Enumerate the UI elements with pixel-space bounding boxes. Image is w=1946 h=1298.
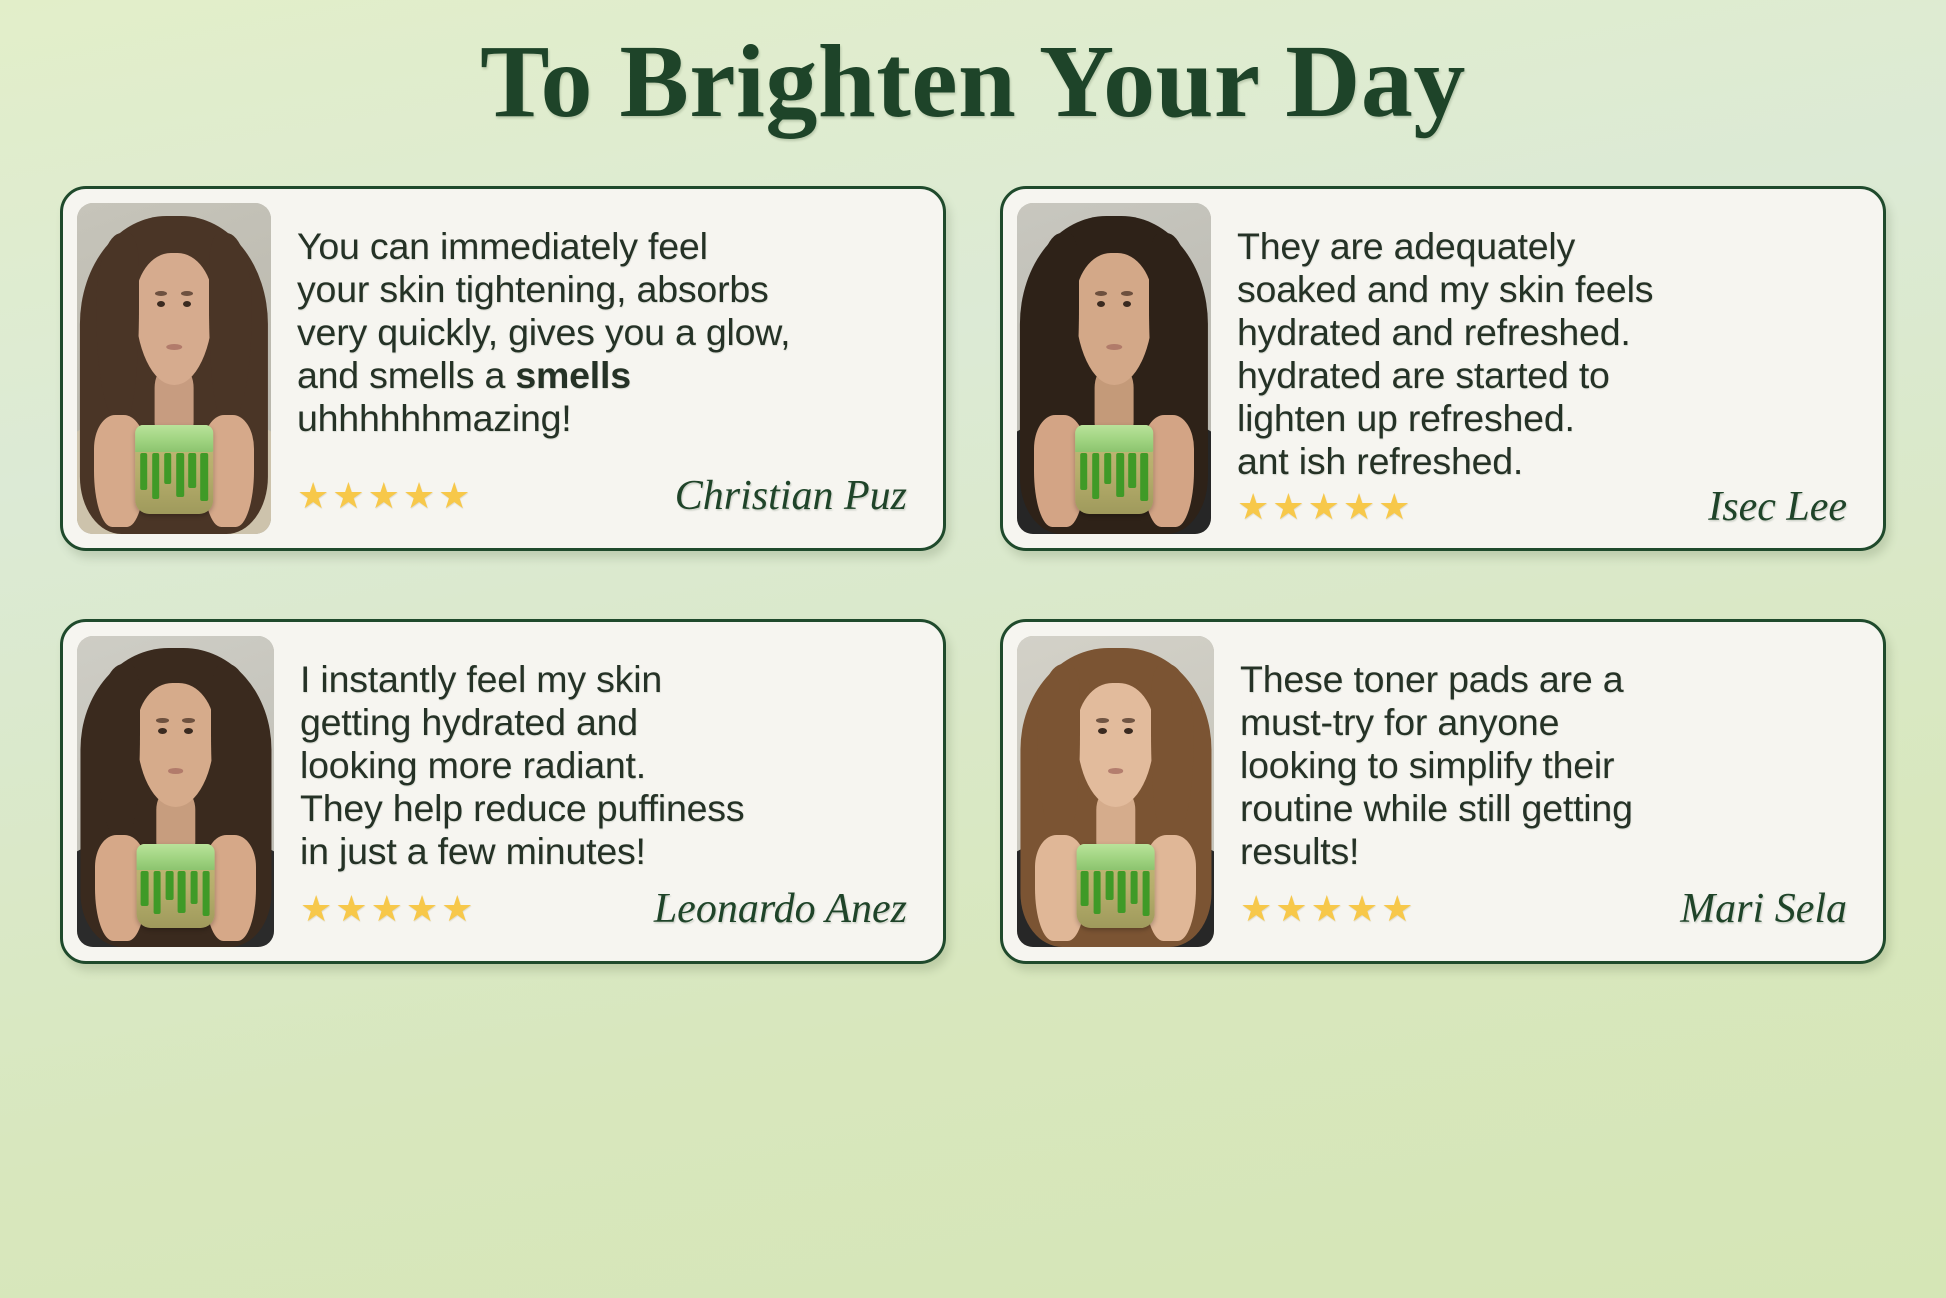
star-icon: ★ bbox=[1237, 489, 1269, 525]
review-footer: ★ ★ ★ ★ ★ Leonardo Anez bbox=[300, 885, 907, 939]
star-icon: ★ bbox=[1275, 891, 1307, 927]
review-body: I instantly feel my skin getting hydrate… bbox=[274, 636, 929, 947]
review-body: They are adequately soaked and my skin f… bbox=[1211, 203, 1869, 534]
star-icon: ★ bbox=[1343, 489, 1375, 525]
review-footer: ★ ★ ★ ★ ★ Mari Sela bbox=[1240, 885, 1847, 939]
review-card[interactable]: You can immediately feel your skin tight… bbox=[60, 186, 946, 551]
review-text: They are adequately soaked and my skin f… bbox=[1237, 225, 1847, 483]
reviewer-photo bbox=[1017, 203, 1211, 534]
review-footer: ★ ★ ★ ★ ★ Christian Puz bbox=[297, 472, 907, 526]
star-icon: ★ bbox=[335, 891, 367, 927]
star-rating: ★ ★ ★ ★ ★ bbox=[297, 478, 470, 520]
star-rating: ★ ★ ★ ★ ★ bbox=[1237, 489, 1410, 531]
review-text: These toner pads are a must-try for anyo… bbox=[1240, 658, 1847, 873]
review-card[interactable]: I instantly feel my skin getting hydrate… bbox=[60, 619, 946, 964]
review-card[interactable]: These toner pads are a must-try for anyo… bbox=[1000, 619, 1886, 964]
star-icon: ★ bbox=[403, 478, 435, 514]
page-title: To Brighten Your Day bbox=[0, 0, 1946, 134]
star-icon: ★ bbox=[1240, 891, 1272, 927]
reviewer-photo bbox=[77, 203, 271, 534]
star-icon: ★ bbox=[1308, 489, 1340, 525]
reviewer-photo bbox=[1017, 636, 1214, 947]
reviewer-name: Isec Lee bbox=[1708, 483, 1847, 531]
star-icon: ★ bbox=[300, 891, 332, 927]
review-text-part: I instantly feel my skin getting hydrate… bbox=[300, 658, 744, 872]
review-footer: ★ ★ ★ ★ ★ Isec Lee bbox=[1237, 483, 1847, 537]
portrait-illustration bbox=[77, 636, 274, 947]
review-text-part: They are adequately soaked and my skin f… bbox=[1237, 225, 1653, 482]
star-icon: ★ bbox=[438, 478, 470, 514]
review-text: I instantly feel my skin getting hydrate… bbox=[300, 658, 907, 873]
product-jar-icon bbox=[1075, 425, 1153, 514]
review-body: These toner pads are a must-try for anyo… bbox=[1214, 636, 1869, 947]
product-jar-icon bbox=[1076, 844, 1155, 928]
portrait-illustration bbox=[77, 203, 271, 534]
review-text-part: These toner pads are a must-try for anyo… bbox=[1240, 658, 1633, 872]
star-icon: ★ bbox=[1311, 891, 1343, 927]
star-rating: ★ ★ ★ ★ ★ bbox=[1240, 891, 1413, 933]
reviews-grid: You can immediately feel your skin tight… bbox=[60, 186, 1886, 964]
reviewer-name: Christian Puz bbox=[675, 472, 907, 520]
star-rating: ★ ★ ★ ★ ★ bbox=[300, 891, 473, 933]
reviewer-name: Mari Sela bbox=[1680, 885, 1847, 933]
star-icon: ★ bbox=[332, 478, 364, 514]
review-body: You can immediately feel your skin tight… bbox=[271, 203, 929, 534]
star-icon: ★ bbox=[1272, 489, 1304, 525]
star-icon: ★ bbox=[297, 478, 329, 514]
star-icon: ★ bbox=[371, 891, 403, 927]
reviewer-photo bbox=[77, 636, 274, 947]
review-card[interactable]: They are adequately soaked and my skin f… bbox=[1000, 186, 1886, 551]
review-text: You can immediately feel your skin tight… bbox=[297, 225, 907, 440]
review-text-emphasis: smells bbox=[515, 354, 631, 396]
star-icon: ★ bbox=[1381, 891, 1413, 927]
star-icon: ★ bbox=[368, 478, 400, 514]
product-jar-icon bbox=[135, 425, 213, 514]
portrait-illustration bbox=[1017, 636, 1214, 947]
star-icon: ★ bbox=[406, 891, 438, 927]
star-icon: ★ bbox=[441, 891, 473, 927]
star-icon: ★ bbox=[1378, 489, 1410, 525]
portrait-illustration bbox=[1017, 203, 1211, 534]
review-text-part: uhhhhhhmazing! bbox=[297, 397, 572, 439]
star-icon: ★ bbox=[1346, 891, 1378, 927]
product-jar-icon bbox=[136, 844, 215, 928]
reviewer-name: Leonardo Anez bbox=[654, 885, 907, 933]
